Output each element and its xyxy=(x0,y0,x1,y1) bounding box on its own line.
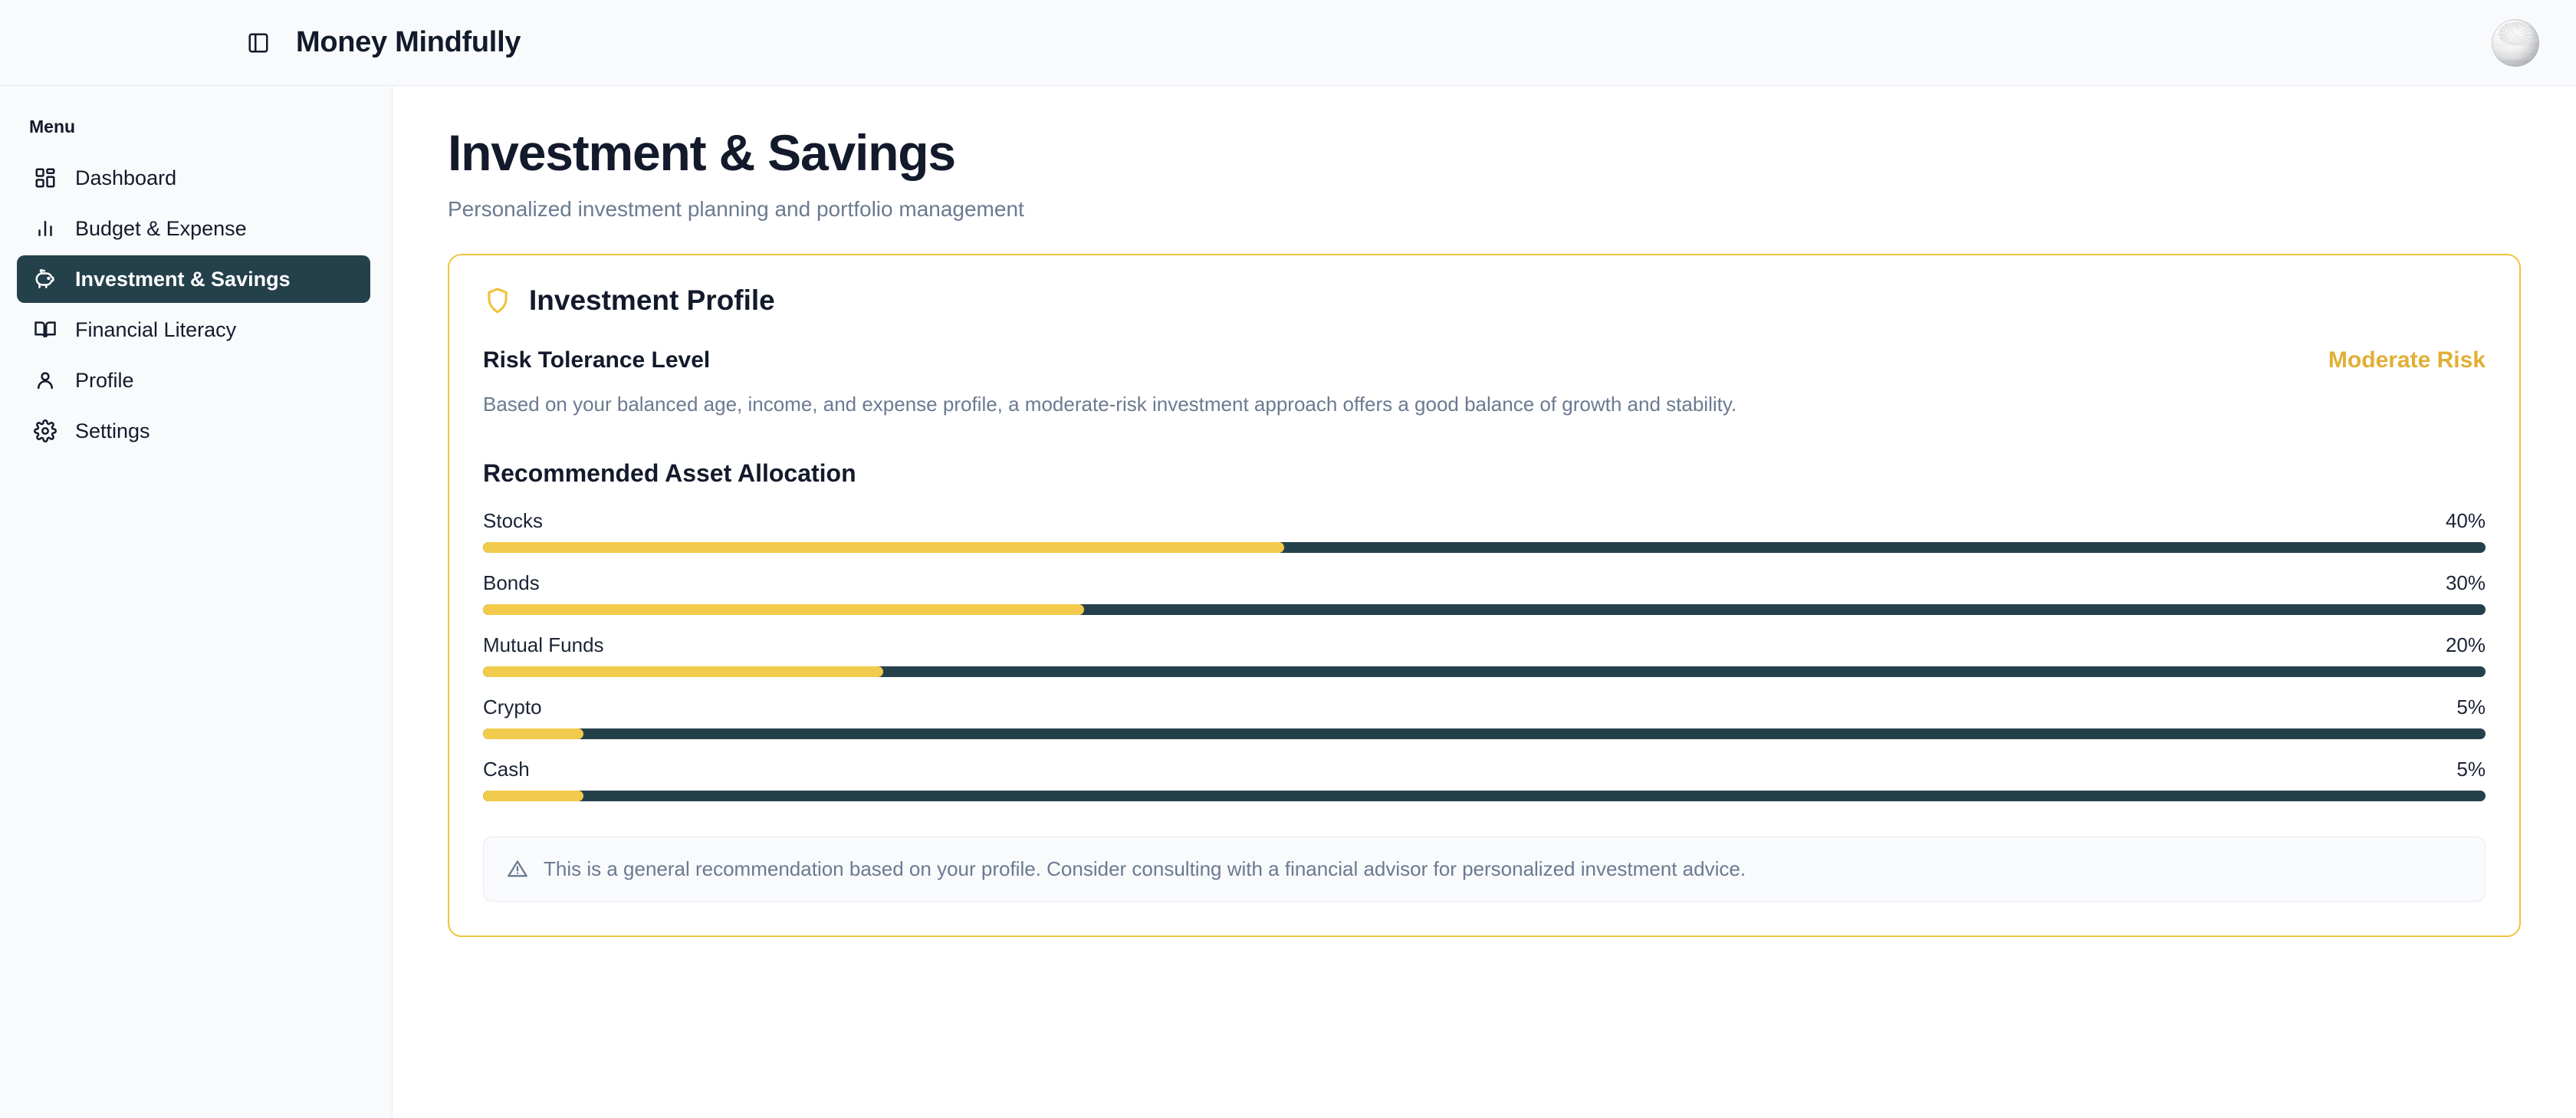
card-header: Investment Profile xyxy=(483,284,2486,317)
topbar-right-group xyxy=(2492,19,2539,67)
progress-bar-track xyxy=(483,542,2486,553)
alert-triangle-icon xyxy=(507,858,528,880)
sidebar: Menu Dashboard xyxy=(0,86,393,1118)
list-item: Bonds 30% xyxy=(483,571,2486,615)
progress-bar-track xyxy=(483,791,2486,801)
sidebar-item-label: Budget & Expense xyxy=(75,217,247,241)
progress-bar-track xyxy=(483,604,2486,615)
sidebar-heading: Menu xyxy=(17,109,370,137)
topbar-left-group: Money Mindfully xyxy=(0,26,521,59)
top-bar: Money Mindfully xyxy=(0,0,2576,86)
sidebar-item-dashboard[interactable]: Dashboard xyxy=(17,154,370,202)
card-title: Investment Profile xyxy=(529,284,775,317)
risk-tolerance-label: Risk Tolerance Level xyxy=(483,347,710,373)
allocation-percent: 5% xyxy=(2456,758,2486,781)
allocation-list: Stocks 40% Bonds 30% xyxy=(483,509,2486,801)
user-icon xyxy=(32,367,58,393)
progress-bar-fill xyxy=(483,728,583,739)
allocation-name: Crypto xyxy=(483,695,542,719)
allocation-percent: 5% xyxy=(2456,695,2486,719)
piggy-bank-icon xyxy=(32,266,58,292)
list-item: Mutual Funds 20% xyxy=(483,633,2486,677)
allocation-percent: 20% xyxy=(2446,633,2486,657)
sidebar-item-financial-literacy[interactable]: Financial Literacy xyxy=(17,306,370,353)
sidebar-toggle-icon[interactable] xyxy=(244,28,273,58)
progress-bar-track xyxy=(483,666,2486,677)
page-subtitle: Personalized investment planning and por… xyxy=(448,197,2521,222)
bar-chart-icon xyxy=(32,215,58,242)
sidebar-item-label: Profile xyxy=(75,369,134,393)
app-root: Money Mindfully Menu Dashboard xyxy=(0,0,2576,1118)
shield-icon xyxy=(483,286,512,315)
list-item: Stocks 40% xyxy=(483,509,2486,553)
sidebar-item-settings[interactable]: Settings xyxy=(17,407,370,455)
sidebar-item-label: Settings xyxy=(75,419,150,443)
sidebar-item-profile[interactable]: Profile xyxy=(17,357,370,404)
risk-tolerance-row: Risk Tolerance Level Moderate Risk xyxy=(483,347,2486,373)
allocation-percent: 40% xyxy=(2446,509,2486,533)
disclaimer-text: This is a general recommendation based o… xyxy=(544,857,1746,881)
layout-grid-icon xyxy=(32,165,58,191)
sidebar-item-investment-savings[interactable]: Investment & Savings xyxy=(17,255,370,303)
progress-bar-fill xyxy=(483,542,1284,553)
sidebar-item-label: Financial Literacy xyxy=(75,318,236,342)
allocation-name: Mutual Funds xyxy=(483,633,604,657)
allocation-name: Stocks xyxy=(483,509,543,533)
app-brand-title: Money Mindfully xyxy=(296,26,521,59)
list-item: Cash 5% xyxy=(483,758,2486,801)
allocation-name: Cash xyxy=(483,758,530,781)
list-item: Crypto 5% xyxy=(483,695,2486,739)
page-title: Investment & Savings xyxy=(448,126,2521,180)
sidebar-item-budget-expense[interactable]: Budget & Expense xyxy=(17,205,370,252)
book-open-icon xyxy=(32,317,58,343)
sidebar-nav: Dashboard Budget & Expense xyxy=(17,154,370,455)
allocation-title: Recommended Asset Allocation xyxy=(483,459,2486,488)
progress-bar-fill xyxy=(483,791,583,801)
progress-bar-track xyxy=(483,728,2486,739)
investment-profile-card: Investment Profile Risk Tolerance Level … xyxy=(448,254,2521,937)
disclaimer-notice: This is a general recommendation based o… xyxy=(483,837,2486,902)
allocation-percent: 30% xyxy=(2446,571,2486,595)
main-content: Investment & Savings Personalized invest… xyxy=(393,86,2576,1118)
app-body: Menu Dashboard xyxy=(0,86,2576,1118)
gear-icon xyxy=(32,418,58,444)
risk-description: Based on your balanced age, income, and … xyxy=(483,390,2486,419)
avatar[interactable] xyxy=(2492,19,2539,67)
allocation-name: Bonds xyxy=(483,571,540,595)
progress-bar-fill xyxy=(483,604,1084,615)
progress-bar-fill xyxy=(483,666,883,677)
sidebar-item-label: Investment & Savings xyxy=(75,268,291,291)
sidebar-item-label: Dashboard xyxy=(75,166,176,190)
status-badge: Moderate Risk xyxy=(2328,347,2486,373)
